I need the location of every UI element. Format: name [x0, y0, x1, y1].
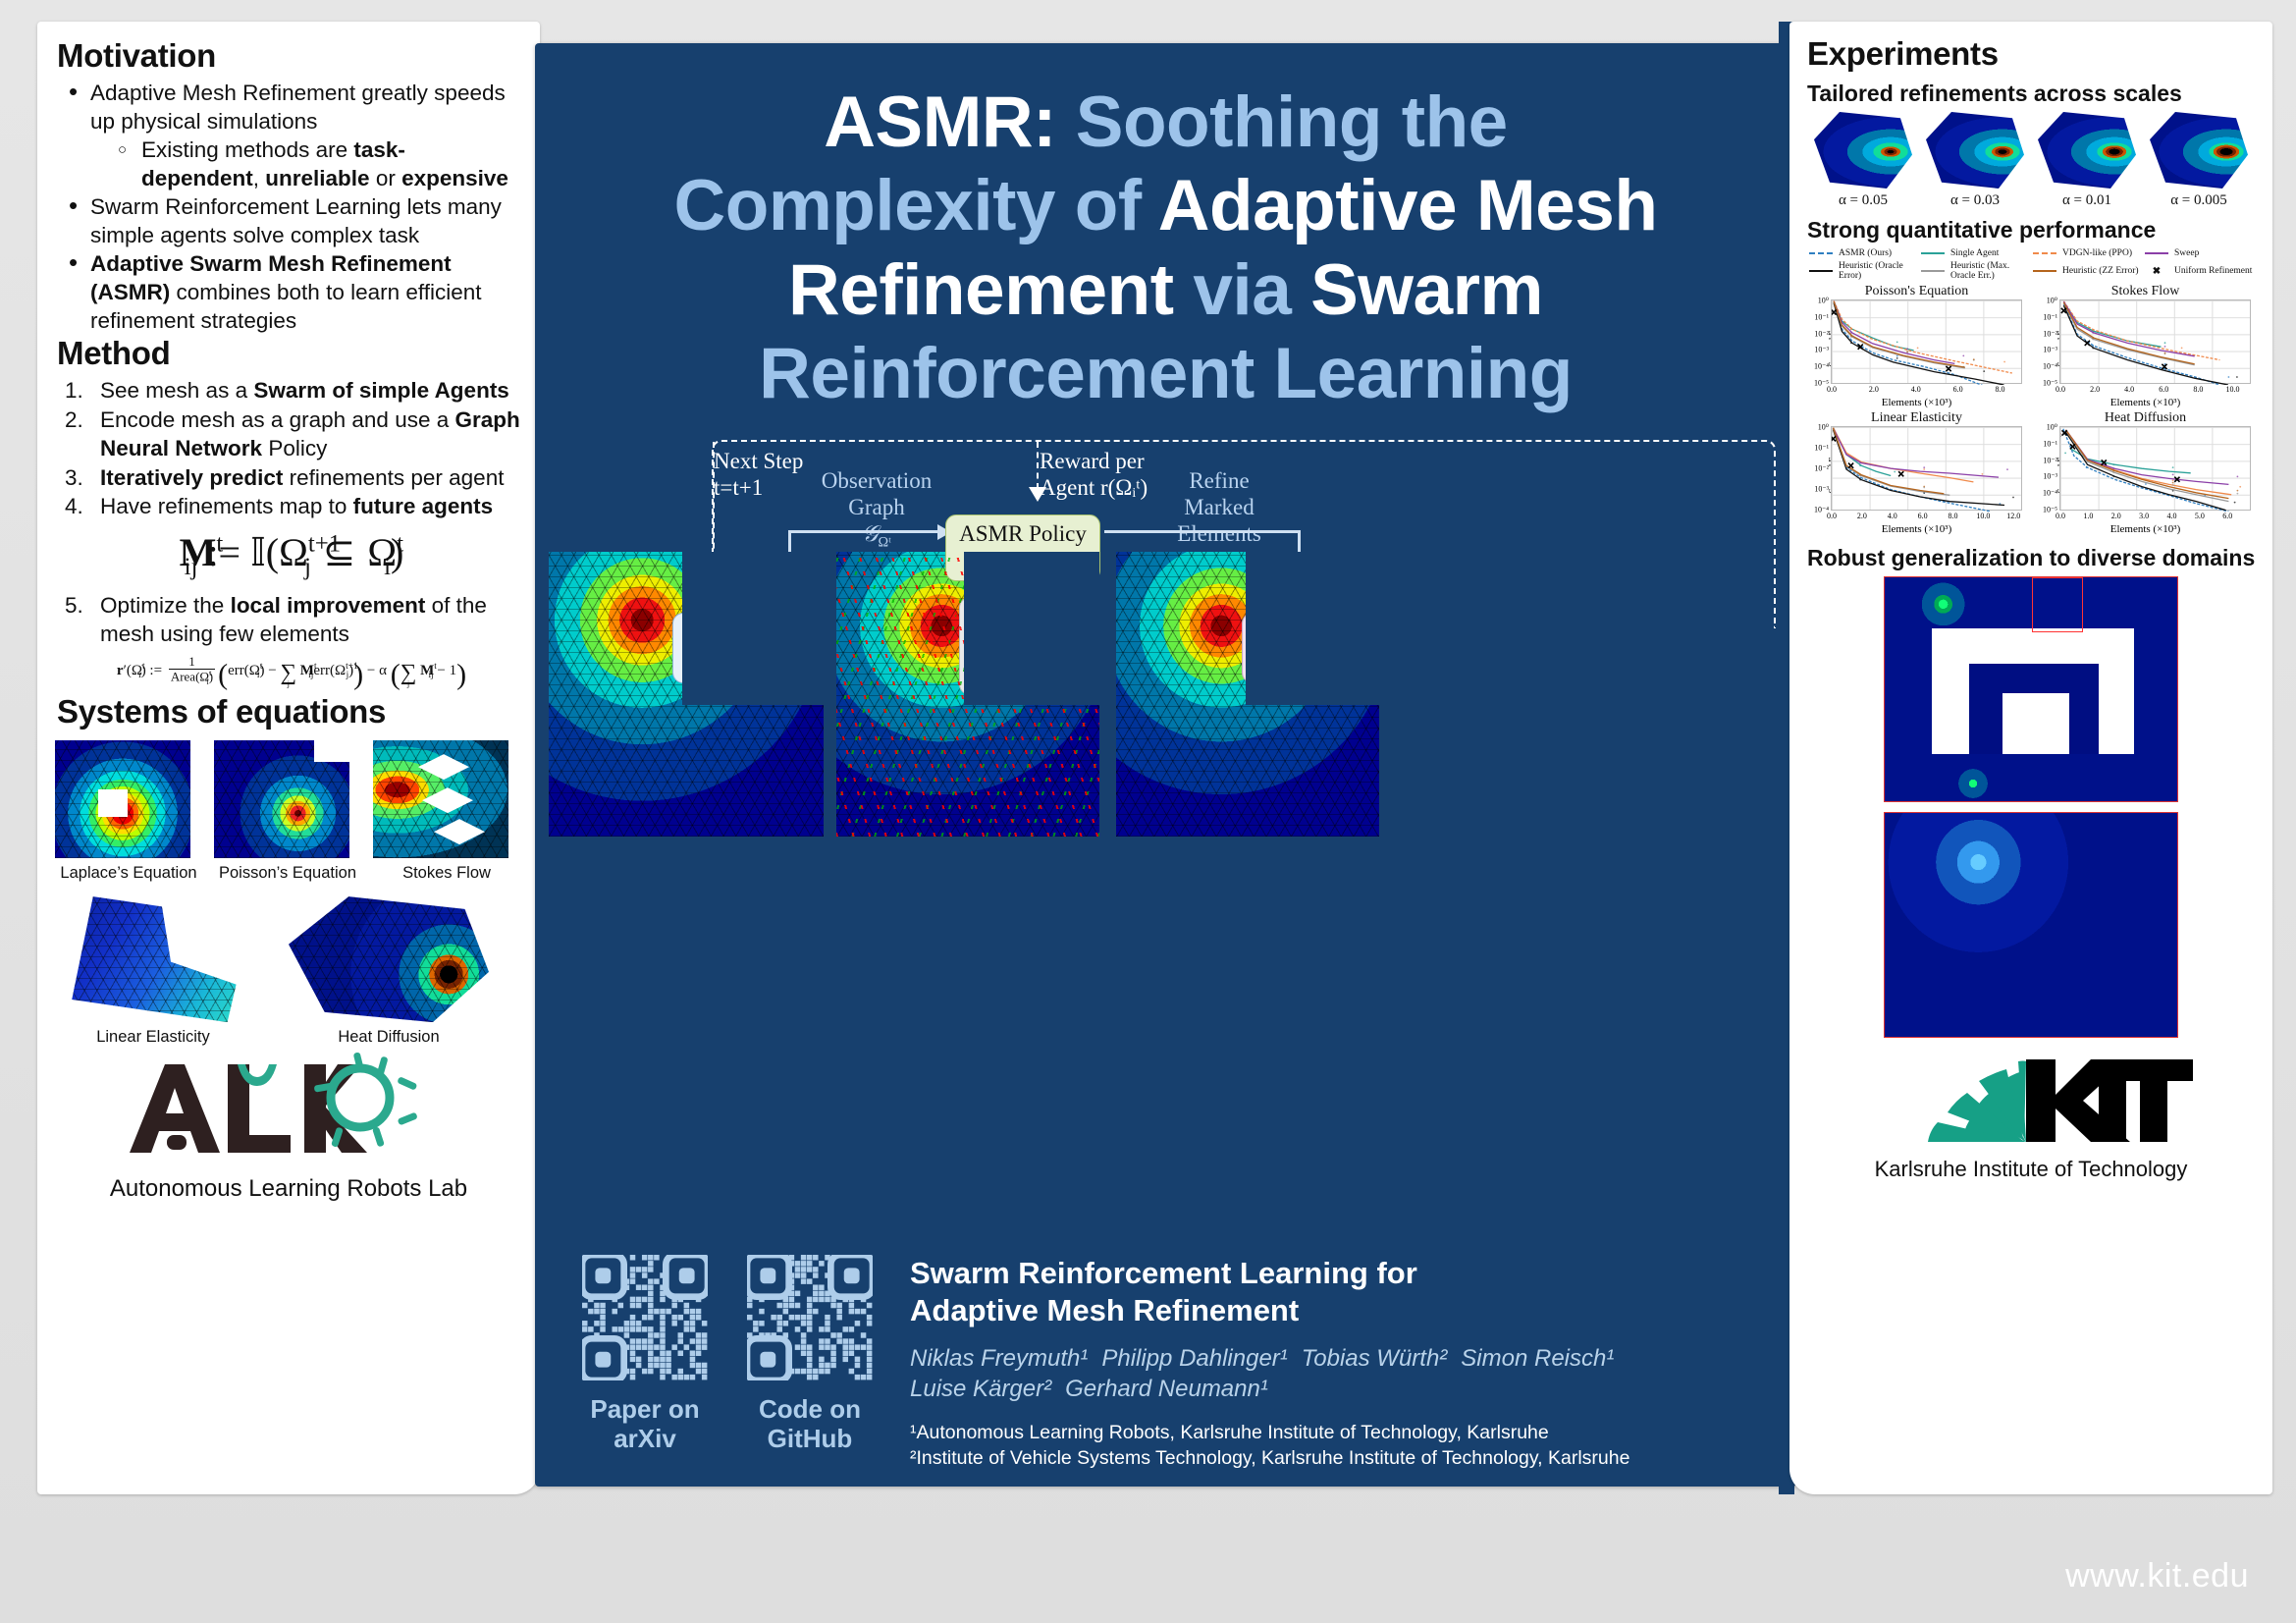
- plot-title: Poisson's Equation: [1805, 284, 2028, 299]
- system-card-heat: Heat Diffusion: [281, 896, 497, 1047]
- author-row: Niklas Freymuth¹Philipp Dahlinger¹Tobias…: [910, 1343, 1629, 1374]
- quantitative-performance-subheading: Strong quantitative performance: [1807, 217, 2257, 243]
- performance-plot: Poisson's EquationSquared Error10⁰10⁻¹10…: [1805, 284, 2028, 408]
- system-card-laplace: Laplace’s Equation: [55, 740, 202, 883]
- x-axis-label: Elements (×10³): [2034, 397, 2257, 408]
- robust-generalization-subheading: Robust generalization to diverse domains: [1807, 545, 2257, 571]
- y-tick-label: 10⁻³: [1814, 485, 1829, 494]
- current-mesh-visualization: [549, 552, 824, 837]
- elasticity-mesh-thumbnail: [65, 896, 241, 1022]
- plot-axes: 10⁰10⁻¹10⁻²10⁻³10⁻⁴10⁻⁵0.02.04.06.08.0: [1831, 299, 2022, 384]
- x-tick-label: 2.0: [1857, 512, 1867, 520]
- legend-swatch: [2033, 252, 2056, 254]
- y-tick-label: 10⁻¹: [1814, 444, 1829, 453]
- author-name: Simon Reisch¹: [1461, 1345, 1614, 1372]
- author-list: Niklas Freymuth¹Philipp Dahlinger¹Tobias…: [910, 1343, 1629, 1404]
- poster-canvas: Motivation Adaptive Mesh Refinement grea…: [0, 0, 2296, 1623]
- x-tick-label: 8.0: [2193, 385, 2203, 394]
- author-name: Tobias Würth²: [1302, 1345, 1448, 1372]
- x-tick-label: 8.0: [1996, 385, 2005, 394]
- legend-label: Heuristic (Oracle Error): [1839, 261, 1921, 281]
- x-tick-label: 8.0: [1949, 512, 1958, 520]
- scale-mesh-thumbnail: [2150, 112, 2248, 189]
- tailored-refinements-subheading: Tailored refinements across scales: [1807, 81, 2257, 107]
- experiments-panel: Experiments Tailored refinements across …: [1789, 22, 2272, 1494]
- plot-axes: 10⁰10⁻¹10⁻²10⁻³10⁻⁴0.02.04.06.08.010.012…: [1831, 426, 2022, 511]
- x-tick-label: 4.0: [2124, 385, 2134, 394]
- refine-marked-elements-label: Refine Marked Elements: [1126, 467, 1312, 547]
- y-tick-label: 10⁻³: [1814, 346, 1829, 354]
- performance-plot: Linear ElasticitySquared Error10⁰10⁻¹10⁻…: [1805, 410, 2028, 535]
- legend-swatch: [1809, 252, 1833, 254]
- system-caption: Poisson’s Equation: [214, 864, 361, 883]
- qr-paper-caption: Paper on arXiv: [562, 1394, 727, 1453]
- author-name: Luise Kärger²: [910, 1376, 1051, 1402]
- x-tick-label: 4.0: [1911, 385, 1921, 394]
- x-tick-label: 2.0: [2090, 385, 2100, 394]
- scale-caption: α = 0.01: [2034, 192, 2140, 209]
- scale-mesh-thumbnail: [1814, 112, 1912, 189]
- legend-label: Heuristic (Max. Oracle Err.): [1950, 261, 2033, 281]
- method-heading: Method: [57, 335, 522, 372]
- motivation-subbullet-list: Existing methods are task-dependent, unr…: [112, 135, 522, 192]
- method-step: See mesh as a Swarm of simple Agents: [61, 376, 522, 406]
- performance-plots-grid: Poisson's EquationSquared Error10⁰10⁻¹10…: [1805, 284, 2257, 535]
- kit-logo-label: Karlsruhe Institute of Technology: [1805, 1157, 2257, 1182]
- motivation-heading: Motivation: [57, 37, 522, 75]
- observation-graph-visualization: [836, 552, 1099, 837]
- paper-info-block: Swarm Reinforcement Learning for Adaptiv…: [910, 1255, 1629, 1471]
- y-tick-label: 10⁻⁴: [2043, 489, 2057, 498]
- plot-axes: 10⁰10⁻¹10⁻²10⁻³10⁻⁴10⁻⁵0.01.02.03.04.05.…: [2059, 426, 2251, 511]
- x-tick-label: 6.0: [1918, 512, 1928, 520]
- scale-cell: α = 0.01: [2034, 112, 2140, 209]
- motivation-bullet: Adaptive Mesh Refinement greatly speeds …: [61, 79, 522, 192]
- x-tick-label: 0.0: [2056, 512, 2065, 520]
- author-name: Gerhard Neumann¹: [1065, 1376, 1268, 1402]
- system-caption: Heat Diffusion: [281, 1028, 497, 1047]
- legend-label: Heuristic (ZZ Error): [2062, 266, 2139, 276]
- chart-legend: ASMR (Ours)Single AgentVDGN-like (PPO)Sw…: [1809, 248, 2257, 281]
- affiliation-list: ¹Autonomous Learning Robots, Karlsruhe I…: [910, 1420, 1629, 1471]
- scales-image-row: α = 0.05α = 0.03α = 0.01α = 0.005: [1805, 112, 2257, 209]
- x-axis-label: Elements (×10³): [1805, 397, 2028, 408]
- y-tick-label: 10⁻²: [1814, 329, 1829, 338]
- scale-caption: α = 0.05: [1810, 192, 1916, 209]
- motivation-bullet: Adaptive Swarm Mesh Refinement (ASMR) co…: [61, 249, 522, 335]
- scale-caption: α = 0.005: [2146, 192, 2252, 209]
- system-caption: Laplace’s Equation: [55, 864, 202, 883]
- alr-logo-block: Autonomous Learning Robots Lab: [55, 1051, 522, 1203]
- x-tick-label: 12.0: [2006, 512, 2020, 520]
- x-tick-label: 10.0: [2225, 385, 2239, 394]
- title-line: Reinforcement Learning: [586, 332, 1745, 415]
- scale-cell: α = 0.005: [2146, 112, 2252, 209]
- kit-logo-block: Karlsruhe Institute of Technology: [1805, 1054, 2257, 1182]
- scale-mesh-thumbnail: [2038, 112, 2136, 189]
- plot-title: Heat Diffusion: [2034, 410, 2257, 426]
- alr-logo-label: Autonomous Learning Robots Lab: [55, 1175, 522, 1203]
- y-tick-label: 10⁰: [1818, 423, 1829, 432]
- qr-paper-block[interactable]: Paper on arXiv: [562, 1255, 727, 1453]
- center-hero-panel: ASMR: Soothing theComplexity of Adaptive…: [535, 43, 1796, 1487]
- scale-cell: α = 0.03: [1922, 112, 2028, 209]
- performance-plot: Stokes FlowSquared Error10⁰10⁻¹10⁻²10⁻³1…: [2034, 284, 2257, 408]
- legend-item: Single Agent: [1921, 248, 2033, 258]
- stokes-mesh-thumbnail: [373, 740, 508, 858]
- legend-row: Heuristic (Oracle Error)Heuristic (Max. …: [1809, 261, 2257, 281]
- systems-row-bottom: Linear Elasticity Heat Diffusion: [55, 896, 522, 1047]
- x-tick-label: 5.0: [2195, 512, 2205, 520]
- legend-item: Heuristic (Max. Oracle Err.): [1921, 261, 2033, 281]
- x-tick-label: 6.0: [2159, 385, 2168, 394]
- reward-dashed-arrow: [1037, 442, 1039, 489]
- title-line: Refinement via Swarm: [586, 248, 1745, 332]
- legend-item: Sweep: [2145, 248, 2257, 258]
- performance-plot: Heat DiffusionSquared Error10⁰10⁻¹10⁻²10…: [2034, 410, 2257, 535]
- author-row: Luise Kärger²Gerhard Neumann¹: [910, 1374, 1629, 1404]
- scale-cell: α = 0.05: [1810, 112, 1916, 209]
- system-card-poisson: Poisson’s Equation: [214, 740, 361, 883]
- x-tick-label: 3.0: [2139, 512, 2149, 520]
- legend-label: Sweep: [2174, 248, 2199, 258]
- y-tick-label: 10⁻²: [2043, 329, 2057, 338]
- y-tick-label: 10⁻¹: [2043, 312, 2057, 321]
- x-tick-label: 10.0: [1976, 512, 1990, 520]
- legend-swatch: [2033, 270, 2056, 272]
- x-axis-label: Elements (×10³): [2034, 523, 2257, 535]
- systems-row-top: Laplace’s Equation Poisson’s Equation St…: [55, 740, 522, 883]
- y-tick-label: 10⁻³: [2043, 346, 2057, 354]
- pipeline-diagram: Next Step t=t+1 Observation Graph 𝒢Ωᵗ Re…: [549, 434, 1783, 925]
- x-tick-label: 6.0: [2222, 512, 2232, 520]
- x-axis-label: Elements (×10³): [1805, 523, 2028, 535]
- legend-label: Uniform Refinement: [2174, 266, 2252, 276]
- next-mesh-visualization: [1116, 552, 1379, 837]
- center-footer-block: Paper on arXiv Code on GitHub Swarm Rein…: [535, 1255, 1796, 1471]
- method-step: Optimize the local improvement of the me…: [61, 591, 522, 649]
- x-tick-label: 0.0: [1827, 385, 1837, 394]
- motivation-bullet-list: Adaptive Mesh Refinement greatly speeds …: [61, 79, 522, 335]
- heat-mesh-thumbnail: [289, 896, 489, 1022]
- policy-to-next-line: [1104, 530, 1301, 533]
- x-tick-label: 4.0: [2167, 512, 2177, 520]
- legend-item: ✖Uniform Refinement: [2145, 266, 2257, 277]
- paper-title: Swarm Reinforcement Learning for Adaptiv…: [910, 1255, 1629, 1329]
- footer-url: www.kit.edu: [2065, 1557, 2249, 1596]
- legend-marker-icon: ✖: [2145, 266, 2168, 277]
- alr-logo-icon: [122, 1051, 455, 1168]
- motivation-bullet: Swarm Reinforcement Learning lets many s…: [61, 192, 522, 249]
- legend-swatch: [1809, 270, 1833, 272]
- x-tick-label: 4.0: [1888, 512, 1897, 520]
- reward-equation: r′(Ωti) := 1Area(Ωti)(err(Ωti) − ∑j Mtij…: [61, 655, 522, 692]
- y-tick-label: 10⁻⁴: [1814, 362, 1829, 371]
- y-tick-label: 10⁰: [2047, 423, 2057, 432]
- method-step-list: See mesh as a Swarm of simple AgentsEnco…: [61, 376, 522, 691]
- legend-label: Single Agent: [1950, 248, 1999, 258]
- plot-axes: 10⁰10⁻¹10⁻²10⁻³10⁻⁴10⁻⁵0.02.04.06.08.010…: [2059, 299, 2251, 384]
- legend-swatch: [1921, 270, 1945, 272]
- system-caption: Linear Elasticity: [55, 1028, 251, 1047]
- qr-github-caption: Code on GitHub: [727, 1394, 892, 1453]
- y-tick-label: 10⁻³: [2043, 472, 2057, 481]
- qr-code-github-icon[interactable]: [747, 1255, 873, 1380]
- qr-code-block[interactable]: Code on GitHub: [727, 1255, 892, 1453]
- y-tick-label: 10⁻²: [2043, 456, 2057, 464]
- systems-heading: Systems of equations: [57, 693, 522, 730]
- x-tick-label: 0.0: [2056, 385, 2065, 394]
- obs-to-policy-line: [788, 530, 941, 533]
- x-tick-label: 0.0: [1827, 512, 1837, 520]
- observation-graph-label: Observation Graph 𝒢Ωᵗ: [788, 467, 965, 557]
- x-tick-label: 2.0: [1869, 385, 1879, 394]
- scale-mesh-thumbnail: [1926, 112, 2024, 189]
- laplace-mesh-thumbnail: [55, 740, 190, 858]
- author-name: Niklas Freymuth¹: [910, 1345, 1088, 1372]
- y-tick-label: 10⁻¹: [1814, 312, 1829, 321]
- experiments-heading: Experiments: [1807, 35, 2257, 73]
- x-tick-label: 6.0: [1953, 385, 1963, 394]
- legend-item: ASMR (Ours): [1809, 248, 1921, 258]
- page-title: ASMR: Soothing theComplexity of Adaptive…: [586, 81, 1745, 416]
- legend-swatch: [2145, 252, 2168, 254]
- motivation-subbullet: Existing methods are task-dependent, unr…: [112, 135, 522, 192]
- legend-label: VDGN-like (PPO): [2062, 248, 2132, 258]
- spiral-domain-visualization: [1884, 576, 2178, 802]
- method-step: Have refinements map to future agents: [61, 492, 522, 521]
- system-card-stokes: Stokes Flow: [373, 740, 520, 883]
- y-tick-label: 10⁻¹: [2043, 439, 2057, 448]
- method-step: Encode mesh as a graph and use a Graph N…: [61, 406, 522, 463]
- legend-item: Heuristic (ZZ Error): [2033, 266, 2145, 276]
- plot-title: Linear Elasticity: [1805, 410, 2028, 426]
- legend-swatch: [1921, 252, 1945, 254]
- poisson-mesh-thumbnail: [214, 740, 349, 858]
- y-tick-label: 10⁰: [2047, 297, 2057, 305]
- system-card-elasticity: Linear Elasticity: [55, 896, 251, 1047]
- title-line: ASMR: Soothing the: [586, 81, 1745, 164]
- kit-logo-icon: [1869, 1054, 2193, 1148]
- x-tick-label: 1.0: [2083, 512, 2093, 520]
- left-column-panel: Motivation Adaptive Mesh Refinement grea…: [37, 22, 540, 1494]
- legend-row: ASMR (Ours)Single AgentVDGN-like (PPO)Sw…: [1809, 248, 2257, 258]
- system-caption: Stokes Flow: [373, 864, 520, 883]
- plot-title: Stokes Flow: [2034, 284, 2257, 299]
- y-tick-label: 10⁻⁴: [2043, 362, 2057, 371]
- method-step: Iteratively predict refinements per agen…: [61, 463, 522, 493]
- x-tick-label: 2.0: [2111, 512, 2121, 520]
- y-tick-label: 10⁻²: [1814, 464, 1829, 473]
- title-line: Complexity of Adaptive Mesh: [586, 164, 1745, 247]
- qr-code-paper-icon[interactable]: [582, 1255, 708, 1380]
- mapping-equation: Mtij:=𝕀(Ωt+1j⊆Ωti): [61, 529, 522, 581]
- scale-caption: α = 0.03: [1922, 192, 2028, 209]
- legend-item: Heuristic (Oracle Error): [1809, 261, 1921, 281]
- y-tick-label: 10⁰: [1818, 297, 1829, 305]
- legend-item: VDGN-like (PPO): [2033, 248, 2145, 258]
- author-name: Philipp Dahlinger¹: [1101, 1345, 1287, 1372]
- legend-label: ASMR (Ours): [1839, 248, 1892, 258]
- square-domain-visualization: [1884, 812, 2178, 1038]
